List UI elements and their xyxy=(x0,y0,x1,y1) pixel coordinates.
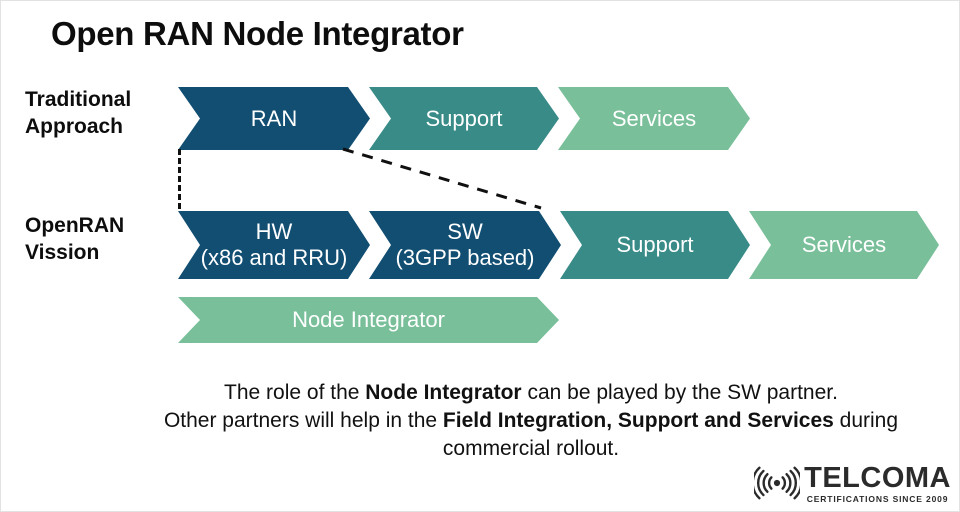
node-integrator-bar[interactable]: Node Integrator xyxy=(178,297,559,343)
stage-support-openran[interactable]: Support xyxy=(560,211,750,279)
caption-line2-part-c: during xyxy=(834,409,898,432)
logo-tagline: CERTIFICATIONS SINCE 2009 xyxy=(807,495,949,504)
caption-line-1: The role of the Node Integrator can be p… xyxy=(111,379,951,407)
stage-hw[interactable]: HW (x86 and RRU) xyxy=(178,211,370,279)
stage-sw[interactable]: SW (3GPP based) xyxy=(369,211,561,279)
stage-services-traditional[interactable]: Services xyxy=(558,87,750,150)
caption-line-3: commercial rollout. xyxy=(111,435,951,463)
caption-line2-part-a: Other partners will help in the xyxy=(164,409,443,432)
caption-text: The role of the Node Integrator can be p… xyxy=(111,379,951,463)
dashed-connector-vertical xyxy=(178,149,181,209)
row-label-traditional-approach: Traditional Approach xyxy=(25,87,131,141)
caption-line1-part-a: The role of the xyxy=(224,381,365,404)
stage-ran[interactable]: RAN xyxy=(178,87,370,150)
row-label-openran-vission: OpenRAN Vission xyxy=(25,213,124,267)
caption-line-2: Other partners will help in the Field In… xyxy=(111,407,951,435)
caption-line2-bold: Field Integration, Support and Services xyxy=(443,409,834,432)
caption-line1-bold: Node Integrator xyxy=(365,381,521,404)
dashed-connector-diagonal xyxy=(341,146,545,212)
page-title: Open RAN Node Integrator xyxy=(51,15,464,53)
wireless-signal-icon xyxy=(754,466,800,500)
logo-wordmark: TELCOMA xyxy=(804,464,951,493)
caption-line1-part-c: can be played by the SW partner. xyxy=(522,381,838,404)
slide-canvas: Open RAN Node Integrator Traditional App… xyxy=(0,0,960,512)
stage-services-openran[interactable]: Services xyxy=(749,211,939,279)
telcoma-logo: TELCOMA CERTIFICATIONS SINCE 2009 xyxy=(754,464,951,504)
stage-support-traditional[interactable]: Support xyxy=(369,87,559,150)
logo-text: TELCOMA CERTIFICATIONS SINCE 2009 xyxy=(804,464,951,504)
